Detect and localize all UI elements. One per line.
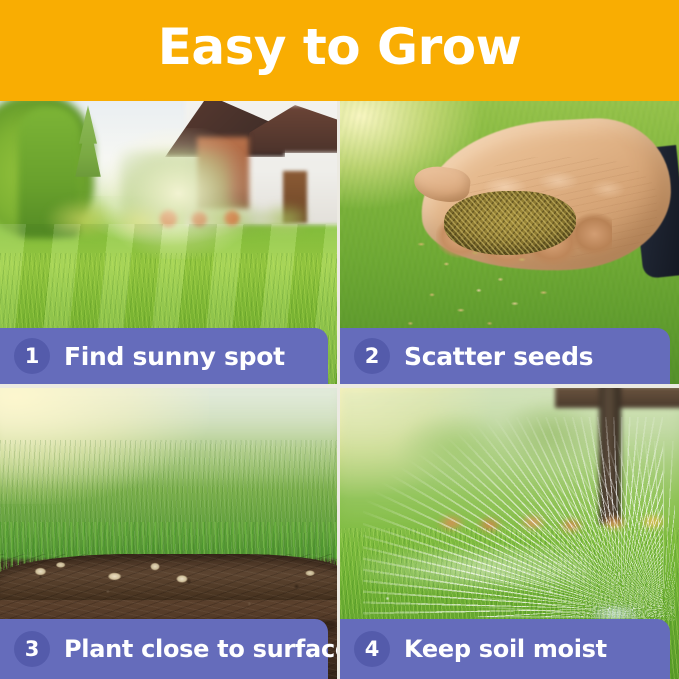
step-4-label: Keep soil moist	[404, 635, 607, 663]
step-card-3: 3 Plant close to surface	[0, 388, 337, 679]
step-1-number: 1	[14, 338, 50, 374]
buried-seeds	[0, 551, 337, 592]
step-1-label-bar: 1 Find sunny spot	[0, 328, 328, 384]
step-2-number: 2	[354, 338, 390, 374]
page-title: Easy to Grow	[0, 14, 679, 80]
step-1-label: Find sunny spot	[64, 342, 285, 371]
step-card-4: 4 Keep soil moist	[340, 388, 679, 679]
header-banner-slant	[0, 88, 190, 101]
steps-grid: 1 Find sunny spot 2 Scatter seeds	[0, 99, 679, 679]
step-3-label-bar: 3 Plant close to surface	[0, 619, 328, 679]
step-4-label-bar: 4 Keep soil moist	[340, 619, 670, 679]
step-2-label: Scatter seeds	[404, 342, 593, 371]
step-2-label-bar: 2 Scatter seeds	[340, 328, 670, 384]
infographic-page: Easy to Grow 1	[0, 0, 679, 679]
falling-seeds	[396, 231, 576, 341]
step-3-label: Plant close to surface	[64, 635, 337, 663]
header-banner: Easy to Grow	[0, 0, 679, 101]
step-3-number: 3	[14, 631, 50, 667]
step-card-2: 2 Scatter seeds	[340, 99, 679, 384]
step-card-1: 1 Find sunny spot	[0, 99, 337, 384]
step-4-number: 4	[354, 631, 390, 667]
